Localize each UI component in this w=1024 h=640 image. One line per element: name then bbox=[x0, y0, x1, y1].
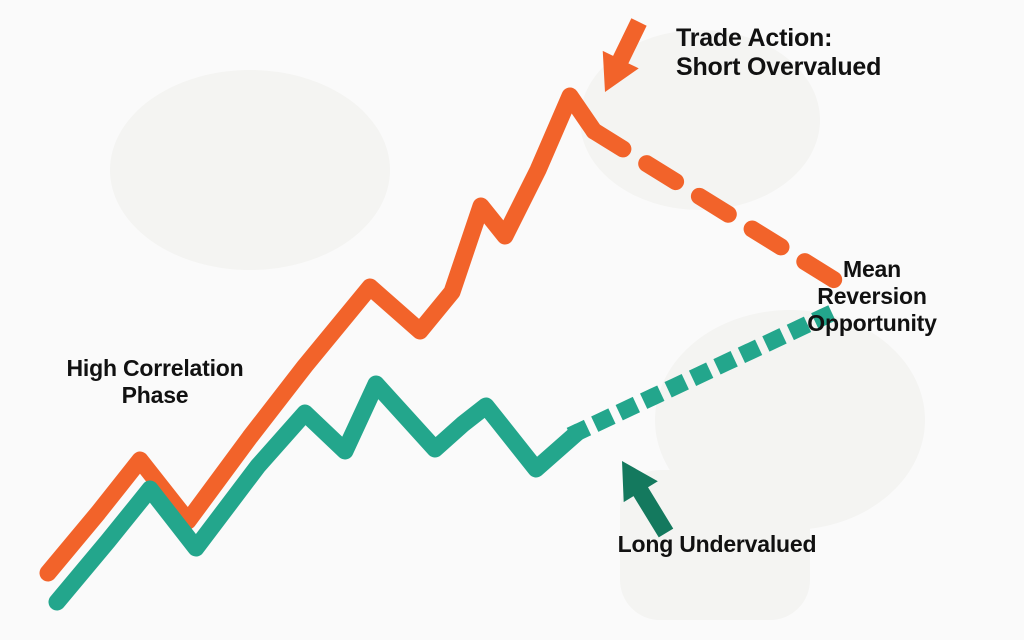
annotation-mean-reversion-opportunity: Mean Reversion Opportunity bbox=[732, 256, 1012, 337]
series-line-2-solid bbox=[57, 384, 578, 602]
annotation-trade-action: Trade Action: Short Overvalued bbox=[676, 24, 881, 83]
diagram-canvas: High Correlation Phase Trade Action: Sho… bbox=[0, 0, 1024, 640]
annotation-high-correlation-phase: High Correlation Phase bbox=[15, 355, 295, 409]
long-signal-arrow bbox=[622, 461, 673, 537]
short-signal-arrow bbox=[603, 18, 647, 92]
annotation-long-undervalued: Long Undervalued bbox=[577, 531, 857, 558]
